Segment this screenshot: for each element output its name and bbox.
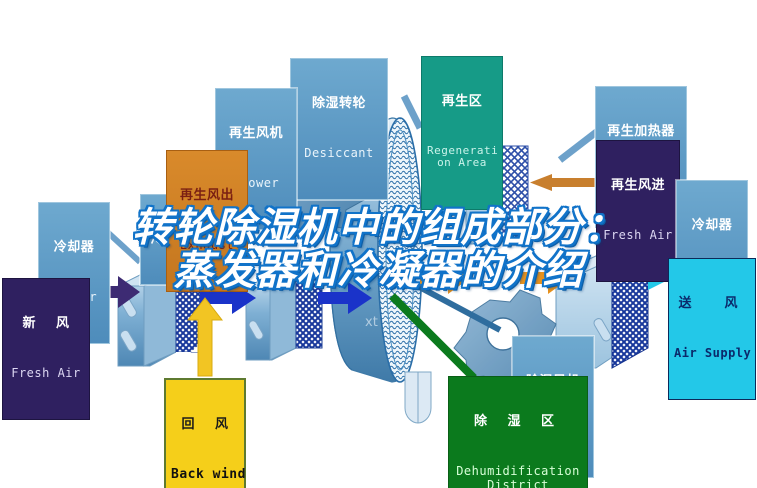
diagram-canvas: xt: [0, 0, 757, 488]
label-back-wind[interactable]: 回 风 Back wind: [164, 378, 246, 488]
label-regeneration-area[interactable]: 再生区 Regenerati on Area: [421, 56, 503, 210]
condenser-housing: [246, 274, 296, 360]
label-air-supply-cn: 送 风: [674, 297, 750, 312]
label-back-wind-en: Back wind: [171, 468, 239, 483]
condenser-coil-face: [296, 274, 322, 348]
label-cooler-right-cn: 冷却器: [682, 219, 742, 234]
label-air-supply[interactable]: 送 风 Air Supply: [668, 258, 756, 400]
label-back-wind-cn: 回 风: [171, 418, 239, 433]
label-regen-exhaust-cn: 再生风出: [172, 189, 242, 204]
label-regen-fresh-air-en: Fresh Air: [602, 229, 674, 242]
label-regen-exhaust[interactable]: 再生风出 Exhaust: [166, 150, 248, 292]
label-desiccant-rotor-en: Desiccant: [296, 147, 382, 160]
drip-pan: [405, 372, 431, 423]
label-dehumidification-district-cn: 除 湿 区: [454, 415, 582, 430]
label-dehumidification-district-en: Dehumidification District: [454, 465, 582, 488]
label-regen-heater-cn: 再生加热器: [601, 125, 681, 140]
label-dehumidification-district[interactable]: 除 湿 区 Dehumidification District: [448, 376, 588, 488]
label-desiccant-rotor-cn: 除湿转轮: [296, 97, 382, 112]
label-regen-fresh-air-cn: 再生风进: [602, 179, 674, 194]
label-fresh-air-in[interactable]: 新 风 Fresh Air: [2, 278, 90, 420]
label-regeneration-area-cn: 再生区: [427, 95, 497, 110]
label-fresh-air-in-cn: 新 风: [8, 317, 84, 332]
label-desiccant-rotor[interactable]: 除湿转轮 Desiccant: [290, 58, 388, 200]
label-regen-exhaust-en: Exhaust: [172, 239, 242, 252]
label-fresh-air-in-en: Fresh Air: [8, 367, 84, 380]
label-regeneration-area-en: Regenerati on Area: [427, 145, 497, 170]
svg-text:xt: xt: [365, 315, 378, 330]
label-air-supply-en: Air Supply: [674, 347, 750, 360]
label-cooler-left-cn: 冷却器: [44, 241, 104, 256]
label-regen-blower-cn: 再生风机: [221, 127, 291, 142]
